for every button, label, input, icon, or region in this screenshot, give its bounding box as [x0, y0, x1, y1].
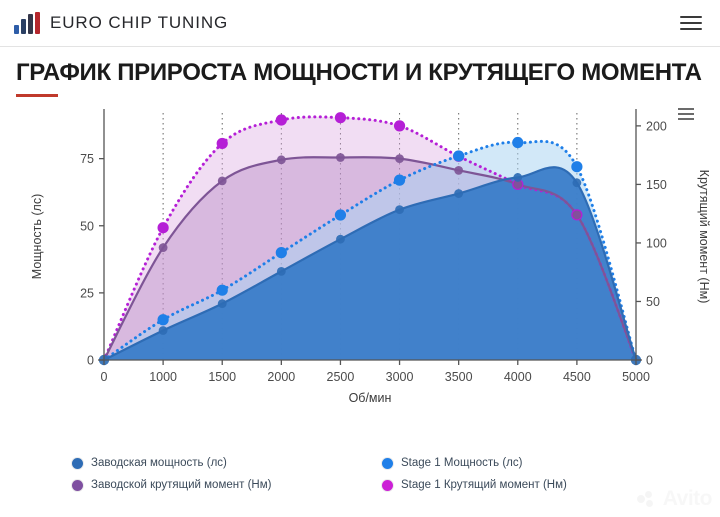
chart-legend: Заводская мощность (лс) Заводской крутящ… — [0, 452, 720, 504]
legend-label: Stage 1 Мощность (лс) — [401, 457, 522, 469]
legend-swatch-icon — [72, 480, 83, 491]
legend-label: Stage 1 Крутящий момент (Нм) — [401, 479, 567, 491]
top-bar: EURO CHIP TUNING — [0, 0, 720, 47]
chart-container: 0255075050100150200010001500200025003000… — [0, 103, 720, 433]
svg-text:50: 50 — [646, 295, 660, 309]
title-section: ГРАФИК ПРИРОСТА МОЩНОСТИ И КРУТЯЩЕГО МОМ… — [0, 47, 720, 97]
svg-text:200: 200 — [646, 120, 667, 134]
svg-text:0: 0 — [646, 354, 653, 368]
legend-item-stage1-torque[interactable]: Stage 1 Крутящий момент (Нм) — [382, 474, 567, 496]
svg-text:4500: 4500 — [563, 370, 591, 384]
svg-text:1500: 1500 — [208, 370, 236, 384]
legend-swatch-icon — [72, 458, 83, 469]
legend-label: Заводской крутящий момент (Нм) — [91, 479, 271, 491]
brand-name: EURO CHIP TUNING — [50, 13, 228, 33]
legend-item-stock-torque[interactable]: Заводской крутящий момент (Нм) — [72, 474, 271, 496]
svg-text:0: 0 — [101, 370, 108, 384]
brand-logo[interactable]: EURO CHIP TUNING — [14, 12, 228, 34]
svg-text:Об/мин: Об/мин — [349, 391, 392, 405]
svg-text:4000: 4000 — [504, 370, 532, 384]
power-torque-chart: 0255075050100150200010001500200025003000… — [0, 103, 720, 433]
svg-text:25: 25 — [80, 287, 94, 301]
svg-text:3000: 3000 — [386, 370, 414, 384]
svg-text:1000: 1000 — [149, 370, 177, 384]
page-title: ГРАФИК ПРИРОСТА МОЩНОСТИ И КРУТЯЩЕГО МОМ… — [16, 60, 704, 85]
svg-text:Крутящий момент (Нм): Крутящий момент (Нм) — [697, 170, 711, 304]
legend-label: Заводская мощность (лс) — [91, 457, 227, 469]
svg-text:Мощность (лс): Мощность (лс) — [30, 194, 44, 279]
svg-text:100: 100 — [646, 237, 667, 251]
legend-swatch-icon — [382, 480, 393, 491]
legend-swatch-icon — [382, 458, 393, 469]
legend-item-stock-power[interactable]: Заводская мощность (лс) — [72, 452, 271, 474]
hamburger-icon[interactable] — [680, 16, 702, 30]
svg-text:50: 50 — [80, 220, 94, 234]
title-underline-rule — [16, 94, 58, 97]
svg-text:5000: 5000 — [622, 370, 650, 384]
bar-chart-logo-icon — [14, 12, 40, 34]
svg-text:2500: 2500 — [327, 370, 355, 384]
svg-text:150: 150 — [646, 178, 667, 192]
svg-text:2000: 2000 — [267, 370, 295, 384]
legend-item-stage1-power[interactable]: Stage 1 Мощность (лс) — [382, 452, 567, 474]
svg-text:0: 0 — [87, 354, 94, 368]
svg-text:3500: 3500 — [445, 370, 473, 384]
svg-text:75: 75 — [80, 153, 94, 167]
